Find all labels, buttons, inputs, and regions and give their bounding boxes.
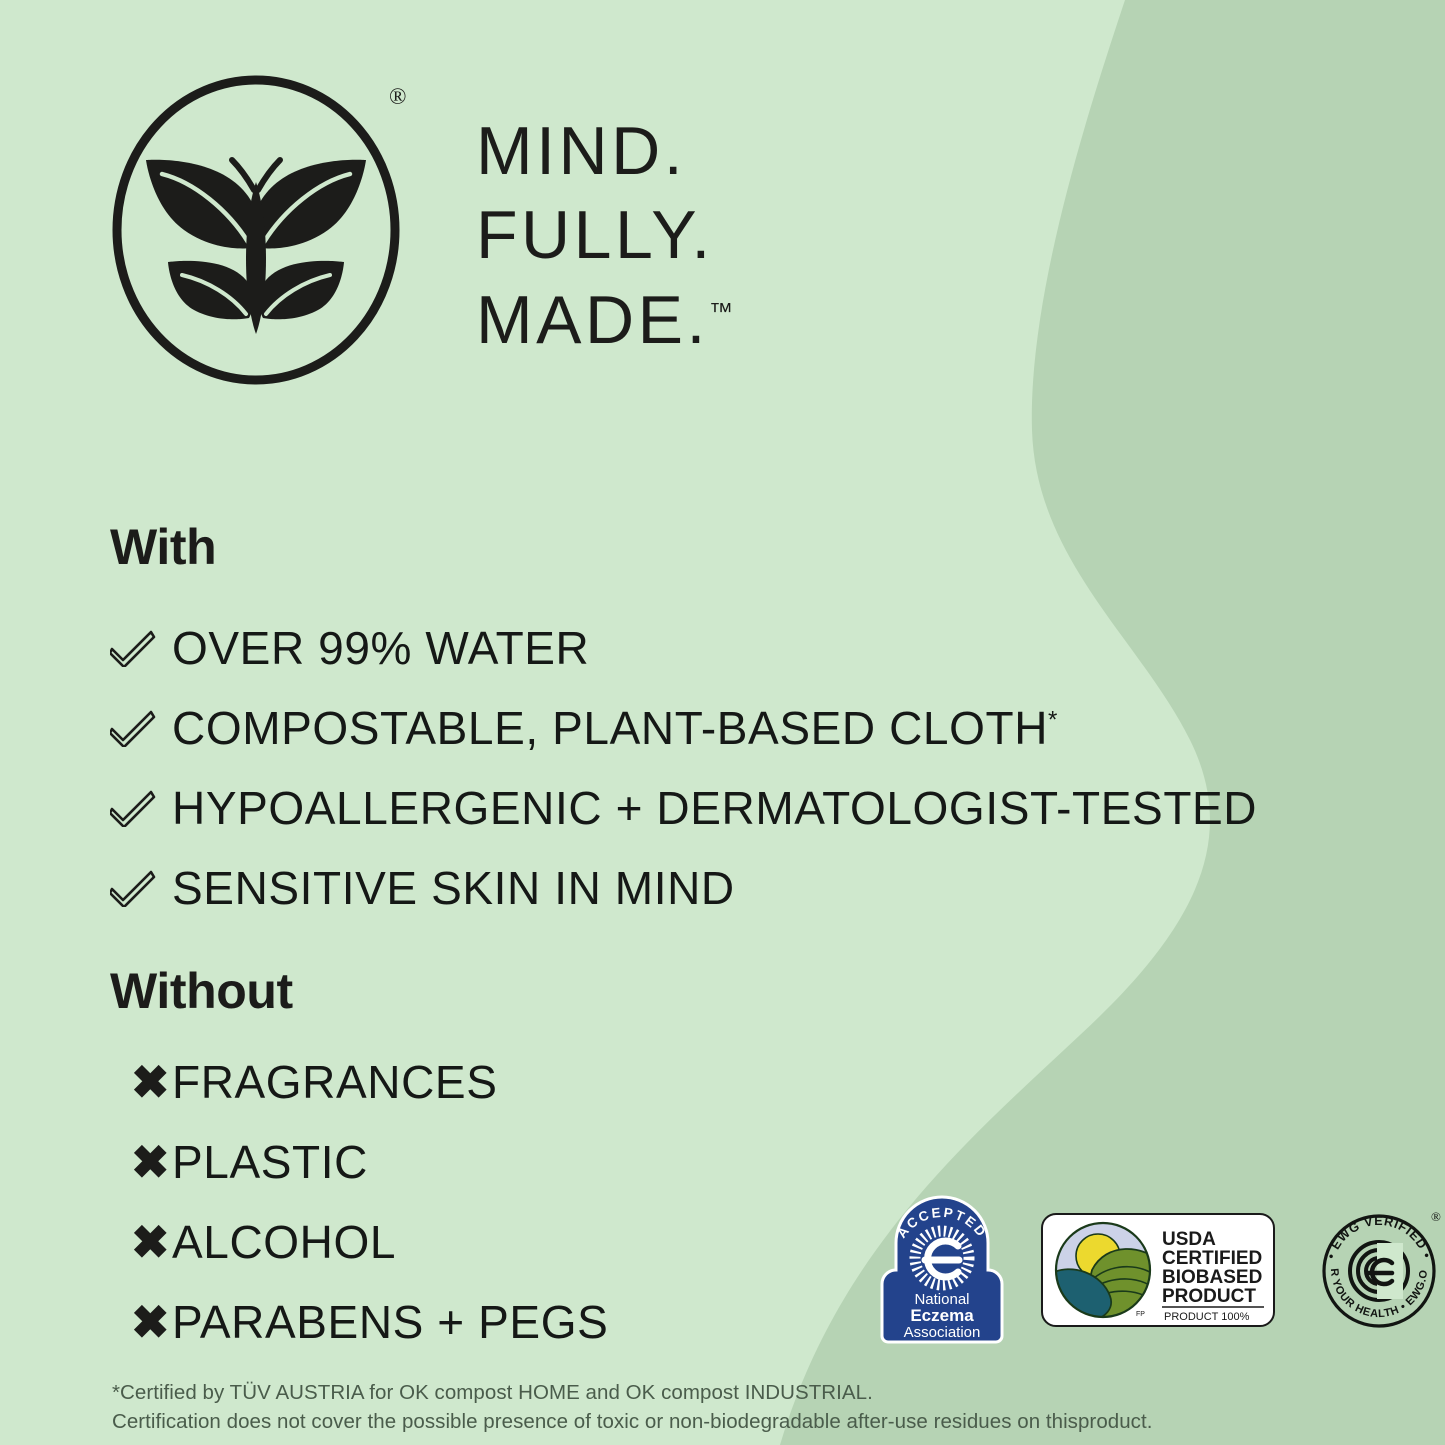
list-item-label: PLASTIC [172,1135,368,1189]
list-item: ✖ FRAGRANCES [110,1042,608,1122]
with-section-heading: With [110,518,216,576]
usda-line-3: BIOBASED [1162,1267,1262,1288]
x-mark-glyph: ✖ [131,1219,170,1265]
footnote: *Certified by TÜV AUSTRIA for OK compost… [112,1378,1152,1436]
x-mark-glyph: ✖ [131,1139,170,1185]
without-feature-list: ✖ FRAGRANCES ✖ PLASTIC ✖ ALCOHOL ✖ [110,1042,608,1362]
checkmark-icon [110,709,172,747]
x-mark-glyph: ✖ [131,1299,170,1345]
ewg-e-emblem [1350,1242,1408,1300]
butterfly-in-circle-logo: ® [108,70,428,392]
usda-corner-mark: FP [1136,1311,1145,1318]
usda-line-1: USDA [1162,1229,1216,1250]
brand-lockup: ® MIND. FULLY. MADE.™ [108,70,733,392]
with-feature-list: OVER 99% WATER COMPOSTABLE, PLANT-BASED … [110,608,1257,928]
certification-badge-row: ACCEPTED National Eczema Association [878,1194,1444,1346]
checkmark-svg [110,709,156,747]
usda-line-4: PRODUCT [1162,1286,1256,1307]
list-item: ✖ PLASTIC [110,1122,608,1202]
list-item: HYPOALLERGENIC + DERMATOLOGIST-TESTED [110,768,1257,848]
list-item: COMPOSTABLE, PLANT-BASED CLOTH* [110,688,1257,768]
list-item: ✖ ALCOHOL [110,1202,608,1282]
trademark-icon: ™ [709,298,733,325]
x-mark-icon: ✖ [110,1139,172,1185]
without-section-heading: Without [110,962,293,1020]
x-mark-glyph: ✖ [131,1059,170,1105]
nea-line-2: Eczema [910,1306,974,1325]
ewg-verified-badge: • EWG VERIFIED • FOR YOUR HEALTH • EWG.O… [1314,1205,1444,1335]
list-item-label: OVER 99% WATER [172,621,589,675]
checkmark-svg [110,869,156,907]
footnote-line-2: Certification does not cover the possibl… [112,1407,1152,1436]
wordmark-line-3: MADE.™ [476,287,733,354]
wordmark-line-3-text: MADE. [476,282,709,358]
checkmark-icon [110,789,172,827]
list-item-label: FRAGRANCES [172,1055,497,1109]
ewg-registered-icon: ® [1431,1209,1441,1224]
list-item-label: COMPOSTABLE, PLANT-BASED CLOTH* [172,701,1058,755]
usda-line-2: CERTIFIED [1162,1248,1262,1269]
checkmark-svg [110,789,156,827]
brand-wordmark: MIND. FULLY. MADE.™ [476,118,733,371]
national-eczema-association-badge: ACCEPTED National Eczema Association [878,1194,1006,1346]
list-item-label: PARABENS + PEGS [172,1295,608,1349]
butterfly-logo-svg [108,70,428,392]
wordmark-line-2: FULLY. [476,202,733,269]
footnote-line-1: *Certified by TÜV AUSTRIA for OK compost… [112,1378,1152,1407]
usda-sub-line: PRODUCT 100% [1164,1311,1250,1323]
list-item-label: ALCOHOL [172,1215,396,1269]
list-item-label: HYPOALLERGENIC + DERMATOLOGIST-TESTED [172,781,1257,835]
usda-certified-biobased-product-badge: FP USDA CERTIFIED BIOBASED PRODUCT PRODU… [1040,1212,1276,1328]
nea-line-3: Association [904,1324,981,1341]
list-item: SENSITIVE SKIN IN MIND [110,848,1257,928]
x-mark-icon: ✖ [110,1059,172,1105]
checkmark-icon [110,869,172,907]
wordmark-line-1: MIND. [476,118,733,185]
x-mark-icon: ✖ [110,1219,172,1265]
footnote-marker: * [1048,707,1058,734]
checkmark-icon [110,629,172,667]
product-claims-infographic: ® MIND. FULLY. MADE.™ With OVER 99% WATE… [0,0,1445,1445]
list-item: ✖ PARABENS + PEGS [110,1282,608,1362]
registered-trademark-icon: ® [389,84,406,110]
checkmark-svg [110,629,156,667]
list-item: OVER 99% WATER [110,608,1257,688]
x-mark-icon: ✖ [110,1299,172,1345]
list-item-label: SENSITIVE SKIN IN MIND [172,861,735,915]
